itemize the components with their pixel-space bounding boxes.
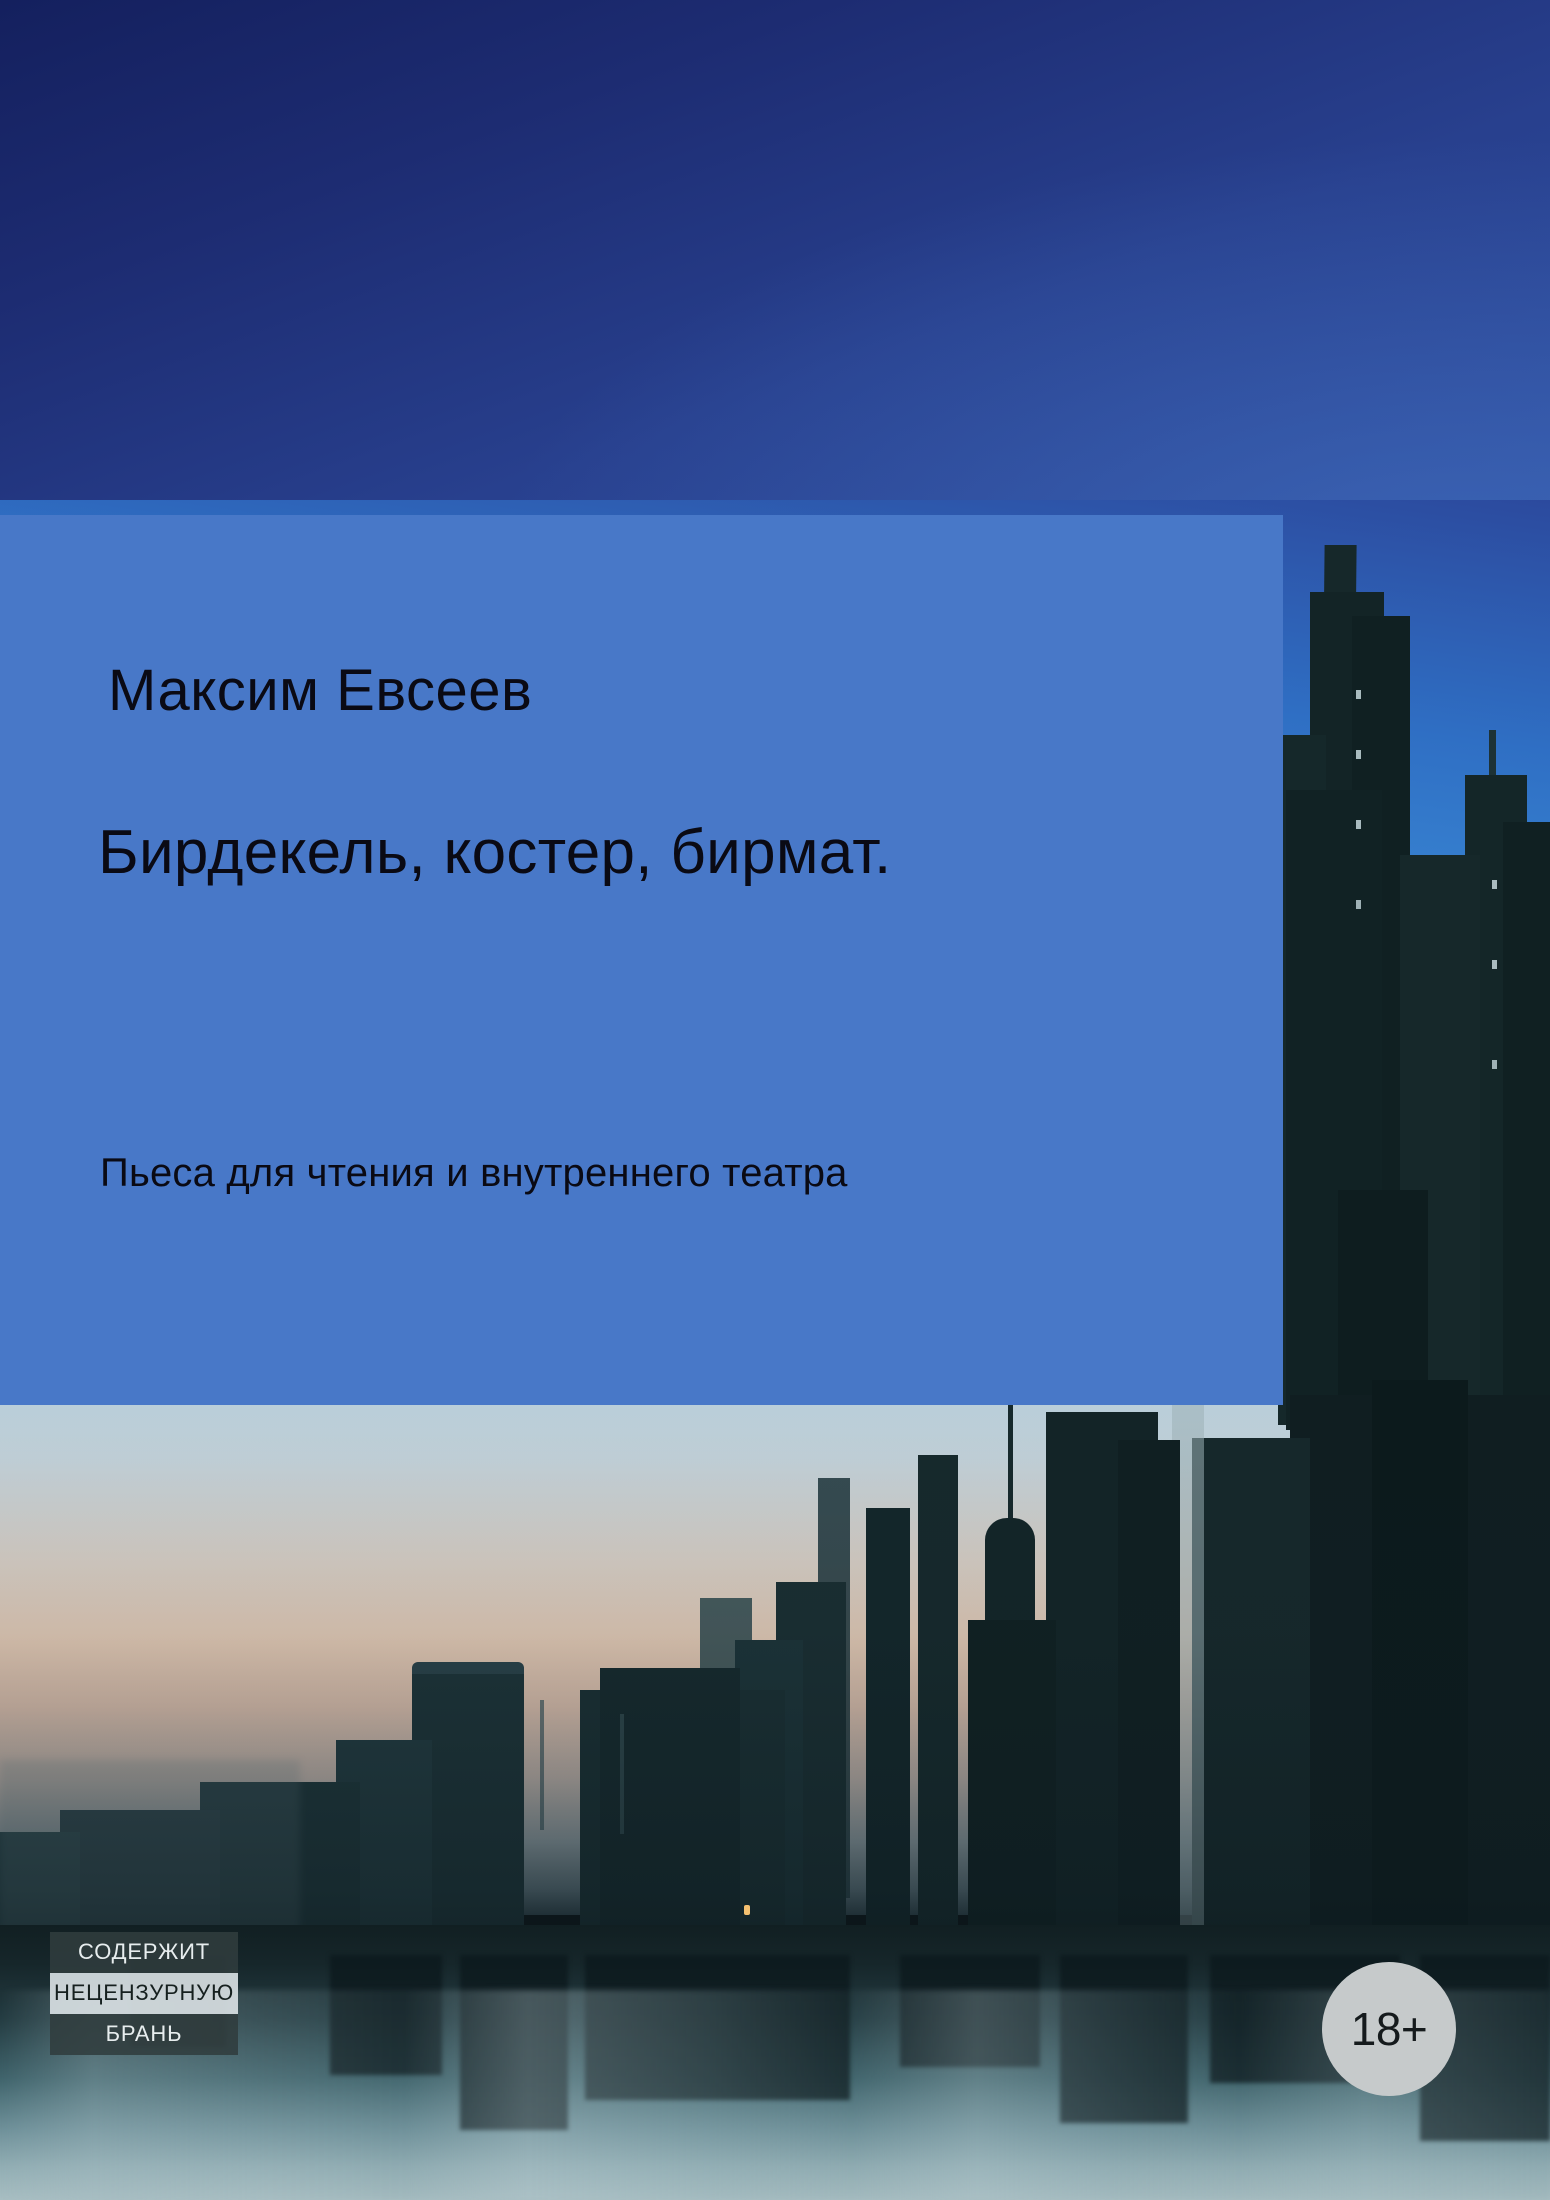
author-name: Максим Евсеев bbox=[108, 657, 532, 724]
tower-window-lights bbox=[1492, 880, 1497, 889]
profanity-warning-badge: СОДЕРЖИТ НЕЦЕНЗУРНУЮ БРАНЬ bbox=[50, 1932, 238, 2055]
tower-window-lights bbox=[1356, 690, 1361, 699]
book-subtitle: Пьеса для чтения и внутреннего театра bbox=[100, 1151, 848, 1196]
book-title: Бирдекель, костер, бирмат. bbox=[98, 817, 892, 888]
tower-window-lights bbox=[1356, 820, 1361, 829]
warning-line-3: БРАНЬ bbox=[50, 2014, 238, 2055]
tower-window-lights bbox=[1492, 1060, 1497, 1069]
age-rating-badge: 18+ bbox=[1322, 1962, 1456, 2096]
age-rating-label: 18+ bbox=[1351, 2006, 1428, 2052]
book-cover: Максим Евсеев Бирдекель, костер, бирмат.… bbox=[0, 0, 1550, 2200]
tower-window-lights bbox=[1356, 900, 1361, 909]
title-panel: Максим Евсеев Бирдекель, костер, бирмат.… bbox=[0, 515, 1283, 1405]
tower-window-lights bbox=[1356, 750, 1361, 759]
night-sky-gradient bbox=[0, 0, 1550, 520]
skyscraper-silhouette bbox=[1503, 822, 1550, 1427]
warning-line-2: НЕЦЕНЗУРНУЮ bbox=[50, 1973, 238, 2014]
window-light bbox=[744, 1905, 750, 1915]
tower-window-lights bbox=[1492, 960, 1497, 969]
warning-line-1: СОДЕРЖИТ bbox=[50, 1932, 238, 1973]
